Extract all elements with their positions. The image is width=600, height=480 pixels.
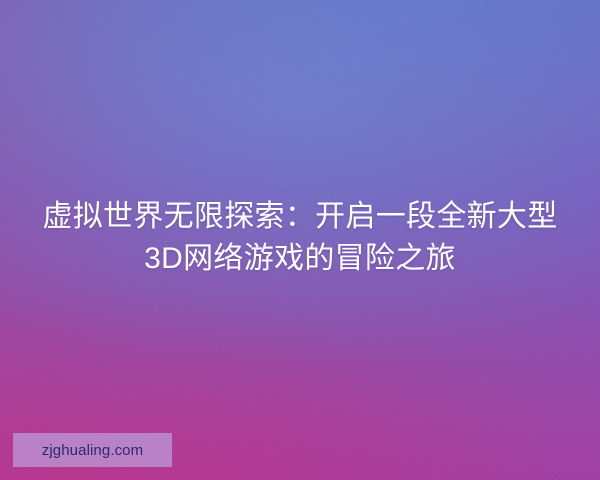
hero-title-container: 虚拟世界无限探索：开启一段全新大型3D网络游戏的冒险之旅 [0, 196, 600, 280]
watermark-label: zjghualing.com [42, 443, 143, 458]
watermark-badge: zjghualing.com [13, 433, 172, 467]
page-title: 虚拟世界无限探索：开启一段全新大型3D网络游戏的冒险之旅 [24, 196, 576, 280]
banner-canvas: 虚拟世界无限探索：开启一段全新大型3D网络游戏的冒险之旅 zjghualing.… [0, 0, 600, 480]
